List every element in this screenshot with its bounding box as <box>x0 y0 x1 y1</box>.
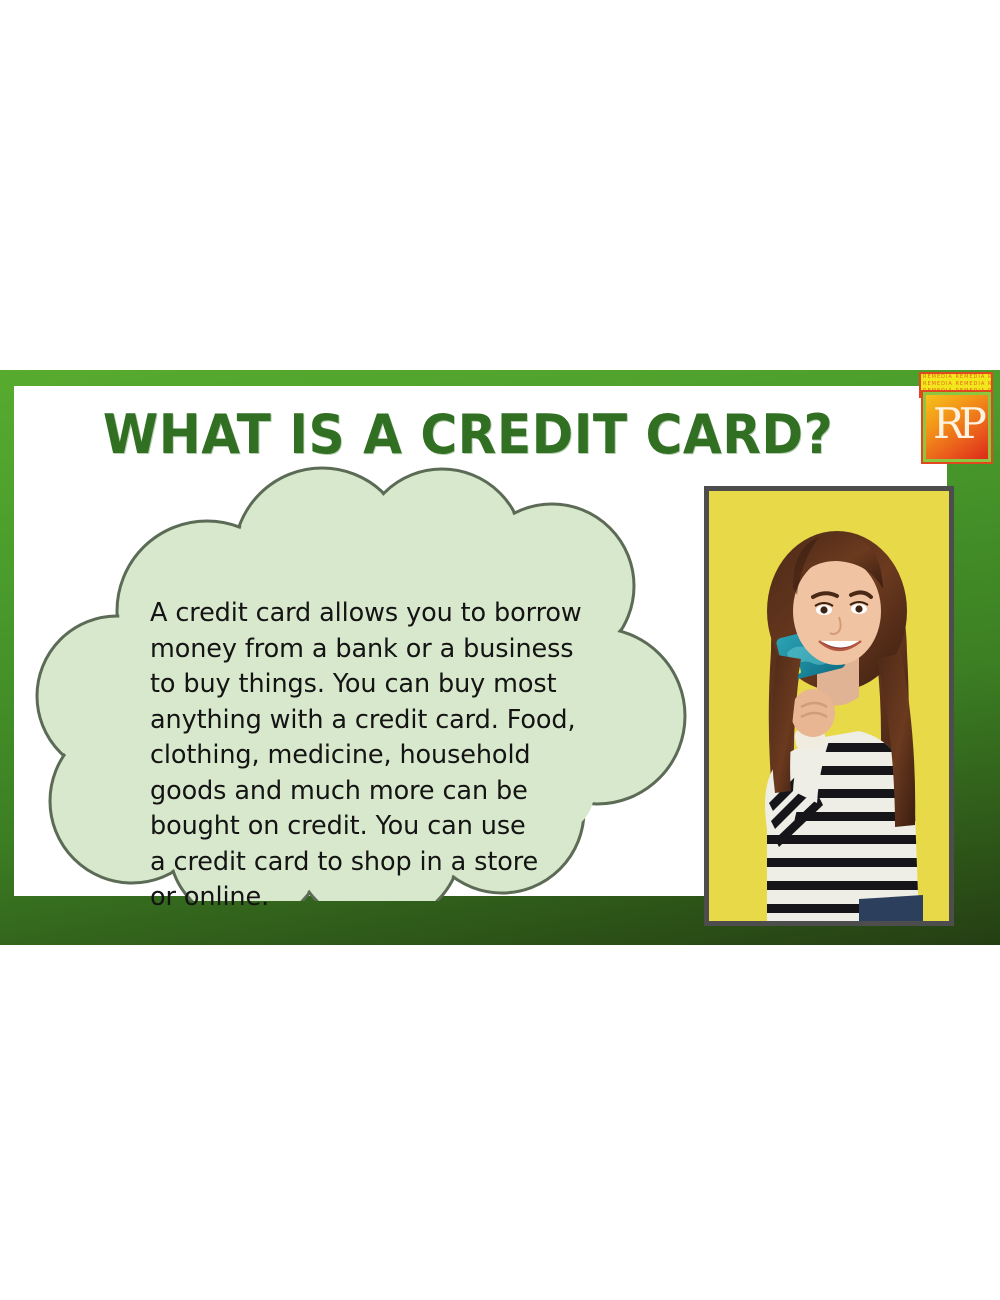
page-title: WHAT IS A CREDIT CARD? <box>59 408 877 462</box>
logo-square: RP <box>923 392 991 462</box>
cloud-line: a credit card to shop in a store <box>150 845 630 881</box>
photo-illustration <box>709 491 949 921</box>
logo-band-row: REMEDIA REMEDIA REMEDIA <box>921 374 991 381</box>
logo-band-row: REMEDIA REMEDIA REMEDIA <box>921 381 991 388</box>
slide-content-area: WHAT IS A CREDIT CARD? <box>14 386 947 896</box>
logo-monogram: RP <box>926 395 988 459</box>
thought-cloud: A credit card allows you to borrow money… <box>22 461 712 901</box>
cloud-line: clothing, medicine, household <box>150 738 630 774</box>
cloud-line: bought on credit. You can use <box>150 809 630 845</box>
slide-frame: WHAT IS A CREDIT CARD? <box>0 370 1000 945</box>
publisher-logo: REMEDIA REMEDIA REMEDIA REMEDIA REMEDIA … <box>919 372 993 464</box>
cloud-line: to buy things. You can buy most <box>150 667 630 703</box>
cloud-line: goods and much more can be <box>150 774 630 810</box>
cloud-line: money from a bank or a business <box>150 632 630 668</box>
cloud-line: or online. <box>150 880 630 916</box>
cloud-line: anything with a credit card. Food, <box>150 703 630 739</box>
cloud-line: A credit card allows you to borrow <box>150 596 630 632</box>
cloud-body-text: A credit card allows you to borrow money… <box>150 596 630 916</box>
photo-woman-with-credit-card <box>704 486 954 926</box>
